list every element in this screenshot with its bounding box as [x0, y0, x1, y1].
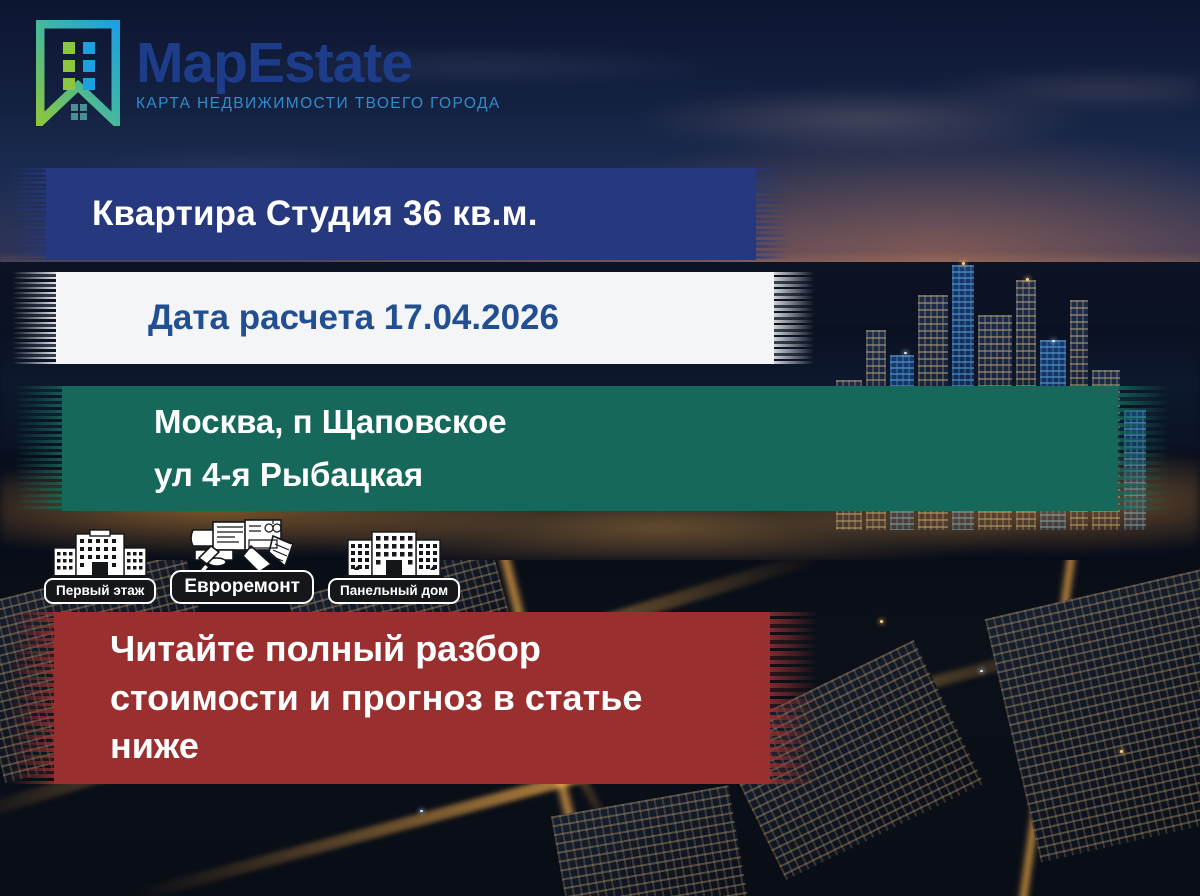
promo-card: MapEstate КАРТА НЕДВИЖИМОСТИ ТВОЕГО ГОРО…: [0, 0, 1200, 896]
cta-banner-fray-right: [762, 612, 818, 784]
building-facade-icon: [52, 528, 148, 582]
brand-logo[interactable]: MapEstate КАРТА НЕДВИЖИМОСТИ ТВОЕГО ГОРО…: [36, 20, 501, 126]
brand-title: MapEstate: [136, 34, 501, 94]
badge-label-first-floor: Первый этаж: [44, 578, 156, 605]
brand-tagline: КАРТА НЕДВИЖИМОСТИ ТВОЕГО ГОРОДА: [136, 95, 501, 112]
cta-line-3: ниже: [54, 722, 770, 771]
badge-first-floor[interactable]: Первый этаж: [44, 528, 156, 605]
badge-panel-house[interactable]: Панельный дом: [328, 528, 460, 605]
date-banner-text: Дата расчета 17.04.2026: [56, 298, 774, 338]
address-line-2: ул 4-я Рыбацкая: [62, 454, 1118, 496]
cta-line-1: Читайте полный разбор: [54, 625, 770, 674]
date-banner-fray-left: [12, 272, 58, 364]
panel-apartment-block-icon: [344, 528, 444, 582]
feature-badges: Первый этаж: [44, 520, 460, 604]
date-banner: Дата расчета 17.04.2026: [56, 272, 774, 364]
address-line-1: Москва, п Щаповское: [62, 401, 1118, 443]
badge-euro-renovation[interactable]: Евроремонт: [170, 520, 314, 604]
property-banner-text: Квартира Студия 36 кв.м.: [46, 194, 756, 234]
cta-line-2: стоимости и прогноз в статье: [54, 674, 770, 723]
cta-banner[interactable]: Читайте полный разбор стоимости и прогно…: [54, 612, 770, 784]
property-banner: Квартира Студия 36 кв.м.: [46, 168, 756, 260]
bookmark-building-logo-icon: [36, 20, 120, 126]
badge-label-euro-renovation: Евроремонт: [170, 570, 314, 604]
badge-label-panel-house: Панельный дом: [328, 578, 460, 605]
address-banner: Москва, п Щаповское ул 4-я Рыбацкая: [62, 386, 1118, 511]
renovation-tools-icon: [187, 520, 297, 574]
date-banner-fray-right: [768, 272, 814, 364]
address-banner-fray-right: [1110, 386, 1170, 511]
